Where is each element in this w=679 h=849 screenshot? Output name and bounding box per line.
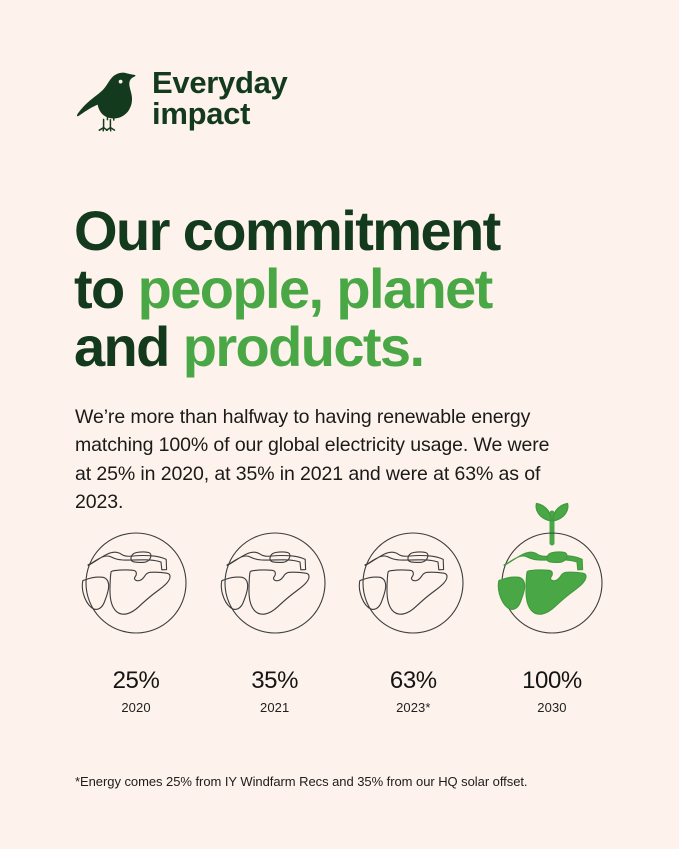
globe-icon [74, 497, 198, 649]
headline-line-2-prefix: to [74, 257, 138, 320]
headline-line-2-accent: people, planet [138, 257, 492, 320]
globe-stat-2020: 25% 2020 [74, 497, 198, 714]
globe-year: 2030 [537, 701, 566, 714]
globe-percent: 35% [251, 669, 298, 693]
globe-icon [213, 497, 337, 649]
globe-stat-2023: 63% 2023* [351, 497, 475, 714]
brand-logo: Everyday impact [76, 66, 287, 132]
globe-year: 2021 [260, 701, 289, 714]
globe-progress-row: 25% 2020 [74, 497, 614, 714]
globe-icon [351, 497, 475, 649]
sprout-icon [536, 504, 568, 544]
bird-icon [76, 66, 138, 132]
logo-line-1: Everyday [152, 68, 287, 99]
globe-year: 2023* [396, 701, 430, 714]
globe-percent: 63% [390, 669, 437, 693]
logo-line-2: impact [152, 99, 287, 130]
logo-wordmark: Everyday impact [152, 68, 287, 129]
headline-line-3-prefix: and [74, 315, 183, 378]
globe-stat-2030: 100% 2030 [490, 497, 614, 714]
globe-sprout-icon [490, 497, 614, 649]
globe-year: 2020 [121, 701, 150, 714]
page-title: Our commitment to people, planet and pro… [74, 202, 614, 377]
headline-line-3-accent: products. [183, 315, 424, 378]
globe-stat-2021: 35% 2021 [213, 497, 337, 714]
globe-percent: 100% [522, 669, 582, 693]
globe-percent: 25% [113, 669, 160, 693]
headline-line-1: Our commitment [74, 199, 500, 262]
infographic-page: Everyday impact Our commitment to people… [0, 0, 679, 849]
footnote: *Energy comes 25% from IY Windfarm Recs … [75, 773, 615, 791]
